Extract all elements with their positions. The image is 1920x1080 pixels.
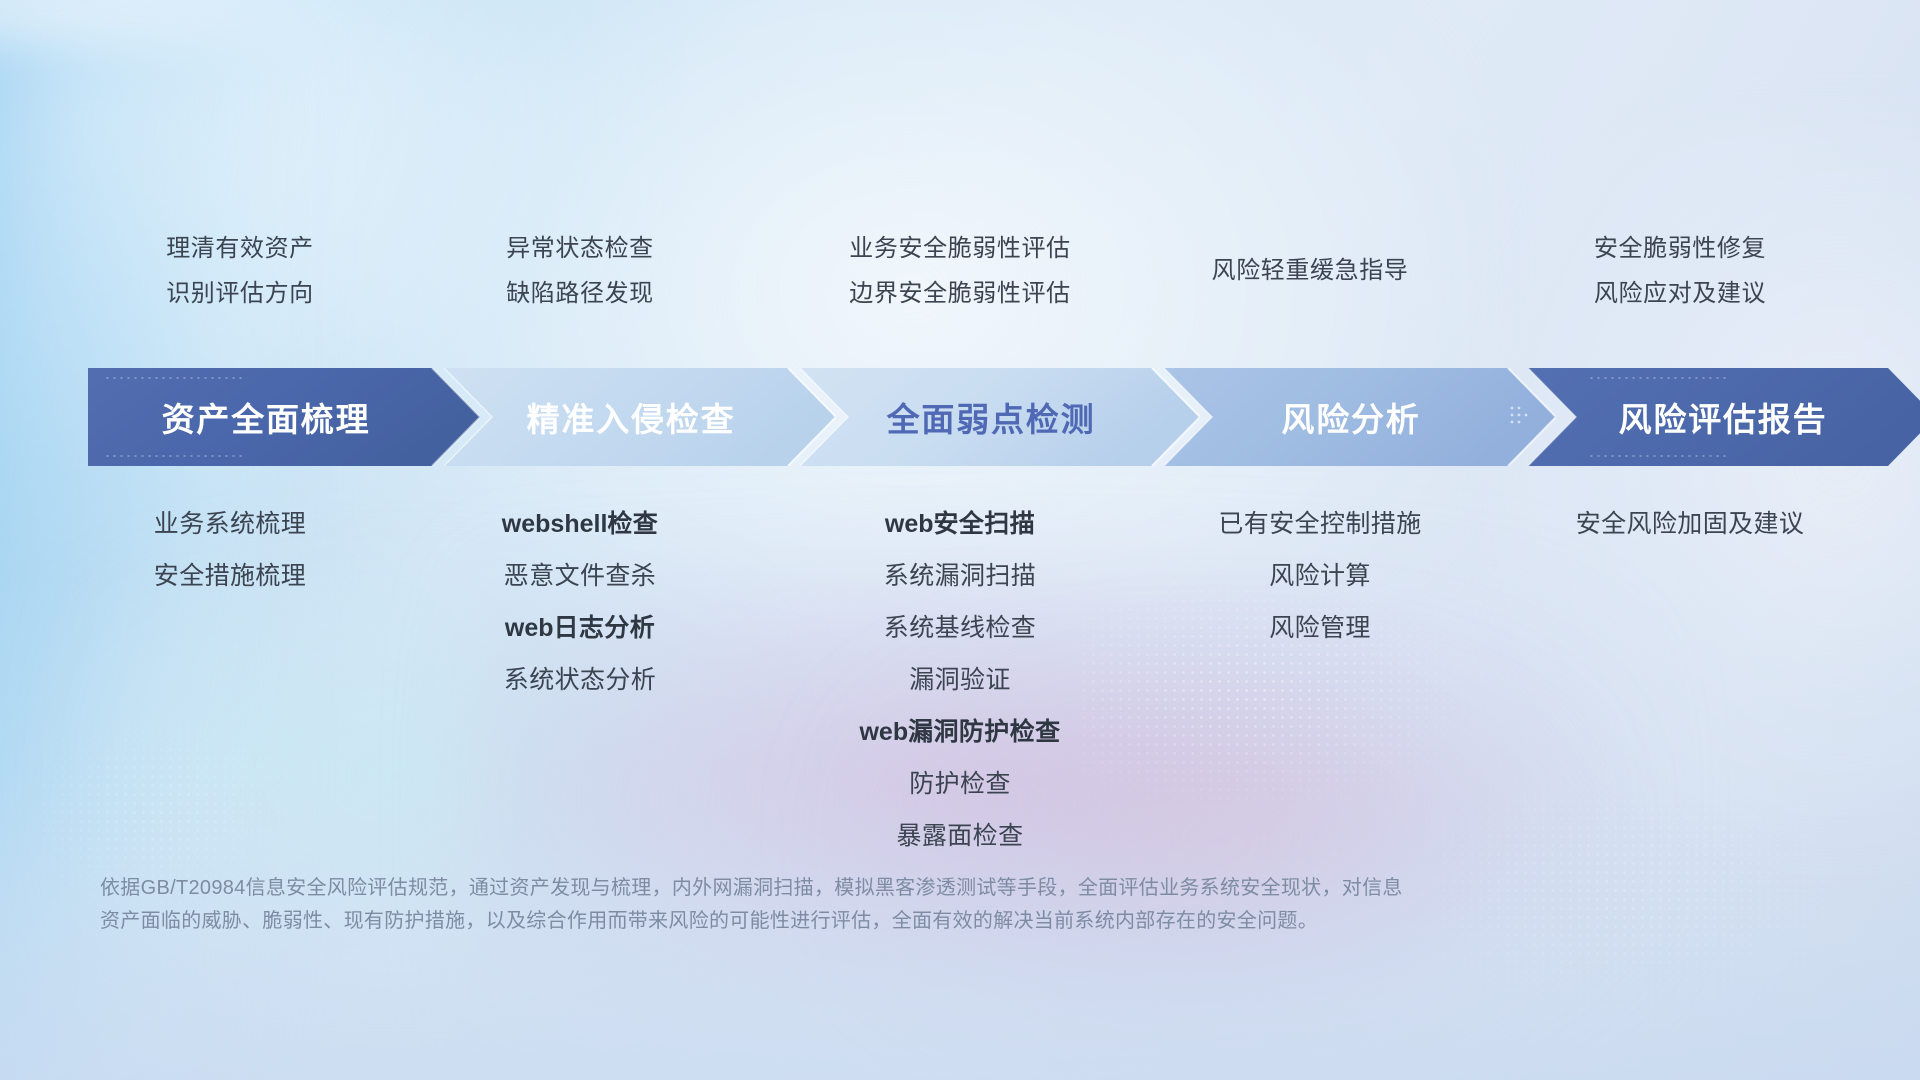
top-note-text: 业务安全脆弱性评估 [760, 226, 1160, 271]
stage-arrow-intrusion-check[interactable]: 精准入侵检查 [444, 368, 836, 466]
detail-item: 安全风险加固及建议 [1490, 498, 1890, 550]
stage-label-risk-report: 风险评估报告 [1619, 393, 1828, 441]
detail-item: 风险管理 [1130, 602, 1510, 654]
detail-item: 漏洞验证 [750, 654, 1170, 706]
detail-item: 业务系统梳理 [50, 498, 410, 550]
stage-label-intrusion-check: 精准入侵检查 [527, 393, 736, 441]
detail-item: 已有安全控制措施 [1130, 498, 1510, 550]
top-notes-risk-analysis: 风险轻重缓急指导 [1120, 248, 1500, 293]
detail-item: web安全扫描 [750, 498, 1170, 550]
stage-label-weakness-detection: 全面弱点检测 [887, 393, 1096, 441]
stage-arrow-weakness-detection[interactable]: 全面弱点检测 [800, 368, 1200, 466]
detail-item: 系统基线检查 [750, 602, 1170, 654]
detail-item: 暴露面检查 [750, 810, 1170, 862]
top-notes-risk-report: 安全脆弱性修复 风险应对及建议 [1490, 226, 1870, 316]
top-note-text: 安全脆弱性修复 [1490, 226, 1870, 271]
detail-item: 系统状态分析 [390, 654, 770, 706]
top-note-text: 缺陷路径发现 [400, 271, 760, 316]
stage-label-asset-inventory: 资产全面梳理 [162, 393, 371, 441]
detail-list-risk-analysis: 已有安全控制措施 风险计算 风险管理 [1130, 498, 1510, 654]
detail-list-asset-inventory: 业务系统梳理 安全措施梳理 [50, 498, 410, 602]
arrow-dot-accent-bottom [1588, 454, 1728, 458]
detail-item: web日志分析 [390, 602, 770, 654]
top-note-text: 风险应对及建议 [1490, 271, 1870, 316]
detail-item: 防护检查 [750, 758, 1170, 810]
stage-arrow-risk-analysis[interactable]: 风险分析 [1164, 368, 1556, 466]
detail-list-weakness-detection: web安全扫描 系统漏洞扫描 系统基线检查 漏洞验证 web漏洞防护检查 防护检… [750, 498, 1170, 862]
top-notes-weakness-detection: 业务安全脆弱性评估 边界安全脆弱性评估 [760, 226, 1160, 316]
detail-item: web漏洞防护检查 [750, 706, 1170, 758]
detail-item: 恶意文件查杀 [390, 550, 770, 602]
process-diagram: 理清有效资产 识别评估方向 异常状态检查 缺陷路径发现 业务安全脆弱性评估 边界… [0, 0, 1920, 1080]
detail-list-risk-report: 安全风险加固及建议 [1490, 498, 1890, 550]
top-note-text: 理清有效资产 [60, 226, 420, 271]
detail-item: webshell检查 [390, 498, 770, 550]
stage-label-risk-analysis: 风险分析 [1281, 393, 1420, 441]
arrow-dot-accent-bottom [104, 454, 244, 458]
top-note-text: 风险轻重缓急指导 [1120, 248, 1500, 293]
top-notes-asset-inventory: 理清有效资产 识别评估方向 [60, 226, 420, 316]
top-notes-intrusion-check: 异常状态检查 缺陷路径发现 [400, 226, 760, 316]
detail-item: 系统漏洞扫描 [750, 550, 1170, 602]
footer-description: 依据GB/T20984信息安全风险评估规范，通过资产发现与梳理，内外网漏洞扫描，… [100, 872, 1780, 938]
top-note-text: 边界安全脆弱性评估 [760, 271, 1160, 316]
arrow-dot-accent-top [1588, 376, 1728, 380]
stage-arrow-risk-report[interactable]: 风险评估报告 [1528, 368, 1920, 466]
detail-item: 安全措施梳理 [50, 550, 410, 602]
stage-arrow-asset-inventory[interactable]: 资产全面梳理 [88, 368, 480, 466]
detail-item: 风险计算 [1130, 550, 1510, 602]
top-note-text: 异常状态检查 [400, 226, 760, 271]
footer-line: 依据GB/T20984信息安全风险评估规范，通过资产发现与梳理，内外网漏洞扫描，… [100, 872, 1780, 905]
arrow-dot-accent-top [104, 376, 244, 380]
stage-arrow-band: 资产全面梳理 精准入侵检查 [88, 368, 1848, 466]
footer-line: 资产面临的威胁、脆弱性、现有防护措施，以及综合作用而带来风险的可能性进行评估，全… [100, 905, 1780, 938]
top-note-text: 识别评估方向 [60, 271, 420, 316]
top-notes-row: 理清有效资产 识别评估方向 异常状态检查 缺陷路径发现 业务安全脆弱性评估 边界… [0, 226, 1920, 336]
detail-list-intrusion-check: webshell检查 恶意文件查杀 web日志分析 系统状态分析 [390, 498, 770, 706]
